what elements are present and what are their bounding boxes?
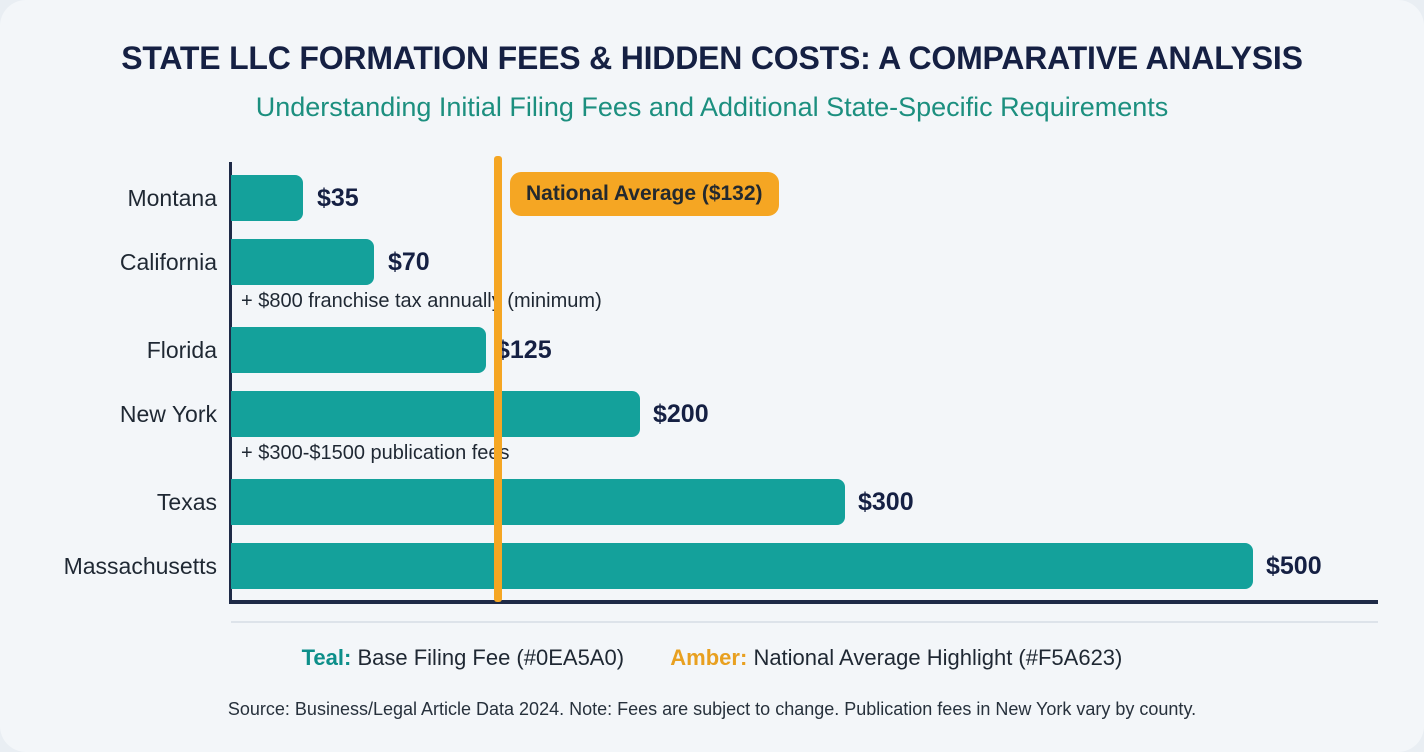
category-label-massachusetts: Massachusetts [0, 543, 217, 589]
legend-teal-key: Teal: [302, 645, 352, 670]
bar-value-new-york: $200 [653, 391, 709, 437]
chart-legend: Teal: Base Filing Fee (#0EA5A0) Amber: N… [0, 645, 1424, 671]
category-label-california: California [0, 239, 217, 285]
annotation-california: + $800 franchise tax annually (minimum) [241, 290, 602, 313]
page-title: STATE LLC FORMATION FEES & HIDDEN COSTS:… [0, 40, 1424, 77]
bar-value-florida: $125 [496, 327, 552, 373]
footer-divider [231, 621, 1378, 623]
bar-value-montana: $35 [317, 175, 359, 221]
category-label-new-york: New York [0, 391, 217, 437]
annotation-new-york: + $300-$1500 publication fees [241, 442, 510, 465]
bar-massachusetts[interactable] [231, 543, 1253, 589]
national-average-line [494, 156, 502, 602]
bar-montana[interactable] [231, 175, 303, 221]
bar-value-california: $70 [388, 239, 430, 285]
y-axis-line [229, 162, 232, 602]
page-subtitle: Understanding Initial Filing Fees and Ad… [0, 92, 1424, 123]
legend-amber-text: National Average Highlight (#F5A623) [753, 645, 1122, 670]
source-note: Source: Business/Legal Article Data 2024… [0, 699, 1424, 720]
chart-card: STATE LLC FORMATION FEES & HIDDEN COSTS:… [0, 0, 1424, 752]
bar-value-massachusetts: $500 [1266, 543, 1322, 589]
bar-chart-plot-area: Montana $35 California $70 + $800 franch… [231, 162, 1378, 602]
category-label-florida: Florida [0, 327, 217, 373]
bar-value-texas: $300 [858, 479, 914, 525]
legend-teal-text: Base Filing Fee (#0EA5A0) [357, 645, 624, 670]
national-average-badge[interactable]: National Average ($132) [510, 172, 779, 216]
legend-amber-key: Amber: [670, 645, 747, 670]
x-axis-line [229, 600, 1378, 604]
bar-florida[interactable] [231, 327, 486, 373]
category-label-texas: Texas [0, 479, 217, 525]
bar-new-york[interactable] [231, 391, 640, 437]
bar-texas[interactable] [231, 479, 845, 525]
category-label-montana: Montana [0, 175, 217, 221]
bar-california[interactable] [231, 239, 374, 285]
